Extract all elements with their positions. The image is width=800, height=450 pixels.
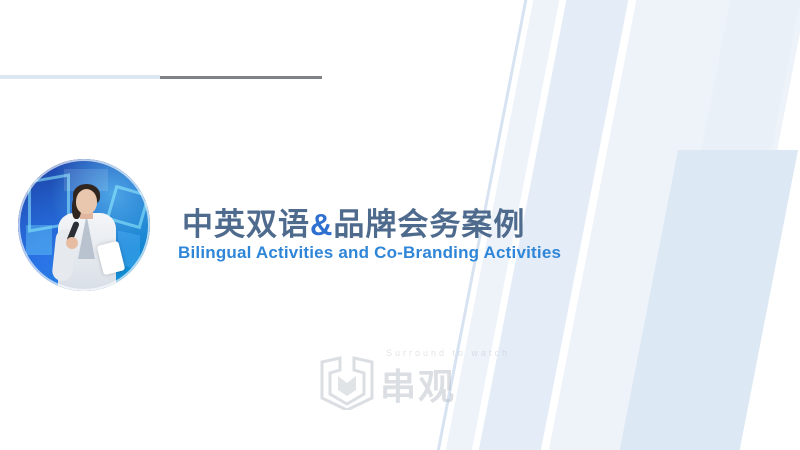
diagonal-band-4 [686,0,800,230]
header-rule-light [0,75,160,79]
watermark-name: 串观 [380,358,456,410]
slide-title-cn: 中英双语&品牌会务案例 [182,199,525,244]
slide-canvas: 中英双语&品牌会务案例 Bilingual Activities and Co-… [0,0,800,450]
slide-title-ampersand: & [310,207,333,242]
speaker-photo-ring [18,159,150,291]
slide-title-cn-right: 品牌会务案例 [333,207,525,242]
slide-title-cn-left: 中英双语 [182,207,310,242]
slide-subtitle-en: Bilingual Activities and Co-Branding Act… [178,243,561,263]
watermark-logo: Surround to watch 串观 [318,352,508,414]
brand-mark-icon [318,356,376,410]
watermark-slogan: Surround to watch [386,348,510,358]
diagonal-band-5 [596,150,798,450]
header-rule-dark [160,76,322,79]
diagonal-band-3 [535,0,800,450]
